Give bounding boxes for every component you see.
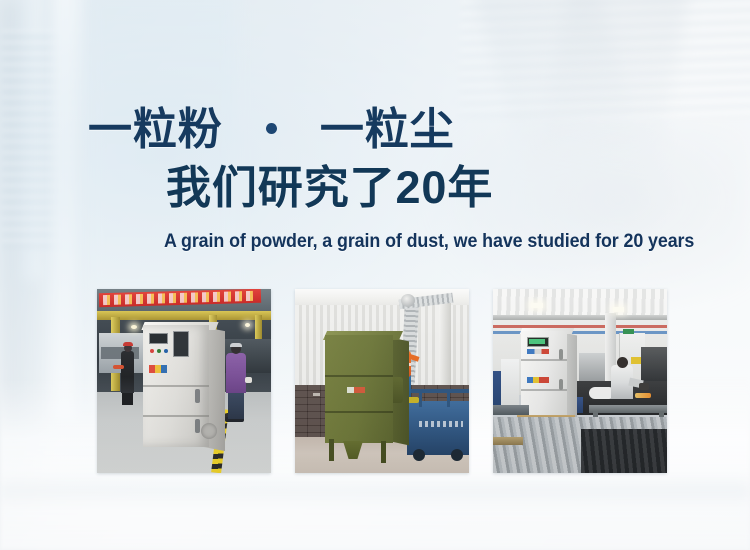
photo2-duct-joint bbox=[401, 294, 415, 307]
photo1-cabinet-panel bbox=[173, 331, 189, 357]
photo1-worker2-legs bbox=[228, 391, 244, 419]
photo2-lift-branding bbox=[419, 421, 463, 427]
photo2-cabinet-leg-1 bbox=[329, 439, 334, 461]
photo-green-dust-collector-scissor-lift[interactable] bbox=[295, 289, 469, 473]
photo3-cabinet-handle-2 bbox=[559, 379, 563, 390]
photo2-brick-speck-1 bbox=[313, 393, 320, 396]
photo1-worker1-red-cap bbox=[123, 342, 133, 346]
photo1-cabinet-display bbox=[149, 333, 168, 344]
photo1-cabinet-label bbox=[149, 365, 167, 373]
photo3-spark bbox=[635, 393, 651, 398]
photo2-cabinet-leg-2 bbox=[381, 441, 386, 463]
photo3-worker-head bbox=[617, 357, 628, 368]
photo3-cabinet-buttons bbox=[527, 349, 549, 354]
photo2-cabinet-label bbox=[347, 387, 365, 393]
photo1-worker1-body bbox=[121, 351, 134, 393]
subtitle-english: A grain of powder, a grain of dust, we h… bbox=[164, 231, 694, 253]
photo1-worker2-purple-shirt bbox=[226, 353, 246, 393]
separator-dot-icon bbox=[266, 123, 277, 134]
headline-line-1: 一粒粉 一粒尘 bbox=[0, 108, 750, 152]
photo1-cabinet-handle-2 bbox=[195, 419, 200, 433]
photo1-cabinet-seam-2 bbox=[143, 415, 209, 417]
headline-line-2: 我们研究了20年 bbox=[0, 165, 750, 210]
photo2-lift-rail bbox=[407, 389, 469, 393]
promo-banner: 一粒粉 一粒尘 我们研究了20年 A grain of powder, a gr… bbox=[0, 0, 750, 550]
photo3-white-equipment bbox=[501, 359, 519, 409]
photo1-cabinet-button-blue bbox=[164, 349, 168, 353]
photo2-lift-wheel-2 bbox=[451, 449, 463, 461]
photo3-dark-tubes bbox=[581, 429, 667, 473]
headline-line1-part2: 一粒尘 bbox=[320, 105, 455, 154]
photo2-lift-wheel-1 bbox=[413, 449, 425, 461]
photo2-cabinet-seam-1 bbox=[325, 375, 393, 377]
photo1-worker2-cap bbox=[230, 343, 242, 347]
photo3-cabinet-handle-1 bbox=[559, 349, 563, 360]
photo1-cabinet-button-green bbox=[157, 349, 161, 353]
photo1-cabinet-port bbox=[201, 423, 217, 439]
photo2-cabinet-seam-2 bbox=[325, 411, 393, 413]
photo1-cabinet-button-red bbox=[150, 349, 154, 353]
photo1-cabinet-seam-1 bbox=[143, 385, 209, 387]
photo3-ceiling-lamp-1 bbox=[531, 303, 543, 308]
photo1-worker2-glove bbox=[245, 377, 252, 383]
photo3-machine-2 bbox=[641, 347, 667, 381]
photo3-cabinet-label bbox=[527, 377, 549, 383]
photo1-cabinet-handle-1 bbox=[195, 389, 200, 403]
headline-line1-part1: 一粒粉 bbox=[88, 105, 223, 154]
photo2-scissor-lift bbox=[407, 401, 469, 455]
photo2-lift-post-1 bbox=[419, 389, 422, 407]
photo3-left-bench bbox=[493, 405, 529, 415]
photo-white-dust-collector-workshop[interactable] bbox=[493, 289, 667, 473]
photo3-steel-rack bbox=[589, 405, 667, 413]
headline-block: 一粒粉 一粒尘 我们研究了20年 bbox=[0, 108, 750, 210]
photo-grey-dust-collector-factory[interactable] bbox=[97, 289, 271, 473]
photo1-ceiling-lamp-1 bbox=[131, 325, 137, 329]
photo3-worker-glove bbox=[639, 383, 649, 390]
photo3-wood-board bbox=[493, 437, 523, 445]
photo1-yellow-beam bbox=[97, 311, 271, 320]
photo3-exit-sign bbox=[623, 329, 634, 334]
photo3-red-pipe bbox=[493, 325, 667, 328]
photo1-worker1-arm bbox=[113, 365, 124, 369]
photo3-cabinet-display-led bbox=[529, 339, 545, 344]
photo3-ceiling-lamp-2 bbox=[613, 307, 624, 312]
photo2-lift-post-2 bbox=[447, 389, 450, 407]
photo-gallery bbox=[97, 289, 667, 473]
photo1-ceiling-lamp-2 bbox=[245, 323, 250, 327]
photo3-machine-1 bbox=[579, 353, 605, 381]
photo3-ceiling-beam bbox=[493, 315, 667, 320]
